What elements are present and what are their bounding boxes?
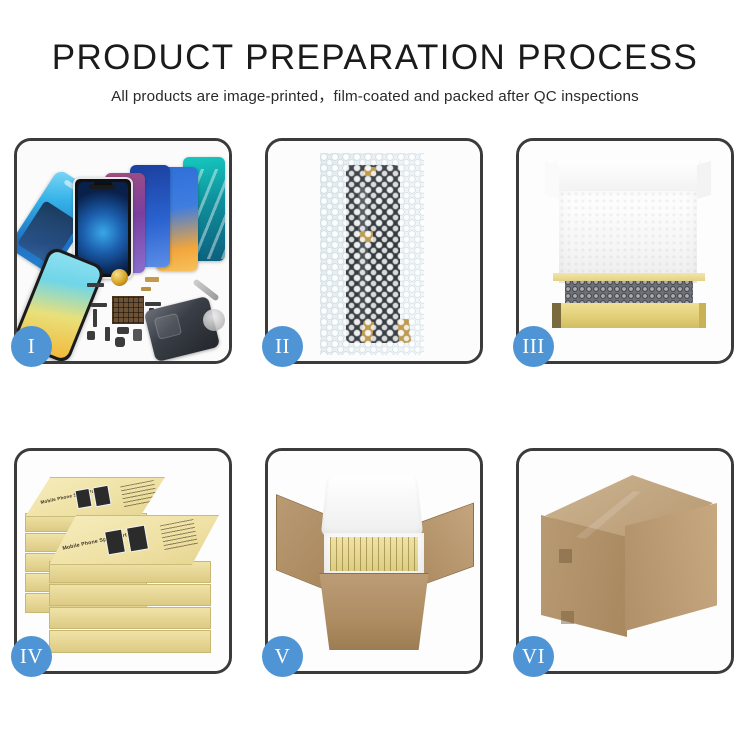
gold-coil-icon xyxy=(111,269,128,286)
step-2-image xyxy=(268,141,480,361)
box-rim-icon xyxy=(553,273,705,281)
header: PRODUCT PREPARATION PROCESS All products… xyxy=(0,36,750,107)
vibrator-icon xyxy=(115,337,125,347)
phone-fan-group xyxy=(73,155,225,277)
stacked-box-fr-4 xyxy=(49,630,211,653)
process-step-panel-2: II xyxy=(265,138,483,364)
step-badge-1: I xyxy=(11,326,52,367)
gold-pin-icon xyxy=(141,287,151,291)
carton-packing-scene xyxy=(268,451,480,671)
carton-body-icon xyxy=(312,573,436,650)
labelled-box-front-lid: Mobile Phone Spare Parts xyxy=(49,515,219,565)
kraft-box-front-icon xyxy=(553,303,705,328)
step-1-image xyxy=(17,141,229,361)
process-step-panel-4: Mobile Phone Spare Parts Mobile Pho xyxy=(14,448,232,674)
wrapped-contents-icon xyxy=(565,279,693,305)
phone-assortment-scene xyxy=(17,141,229,361)
cable-a-icon xyxy=(91,303,107,307)
stacked-box-fr-3 xyxy=(49,607,211,629)
box-open-lid-icon xyxy=(555,159,701,195)
cable-b-icon xyxy=(93,309,97,327)
bubble-wrap-scene xyxy=(268,141,480,361)
sealed-carton-scene xyxy=(519,451,731,671)
spare-parts-group xyxy=(87,269,207,361)
label-text-lines-front xyxy=(160,519,198,551)
stacked-boxes-scene: Mobile Phone Spare Parts Mobile Pho xyxy=(17,451,229,671)
process-step-panel-6: VI xyxy=(516,448,734,674)
step-6-image xyxy=(519,451,731,671)
foam-lid-icon xyxy=(321,476,423,536)
camera-module-icon xyxy=(87,331,95,340)
step-3-image xyxy=(519,141,731,361)
label-window-b2-icon xyxy=(92,485,111,507)
step-badge-2: II xyxy=(262,326,303,367)
tool-handle-icon xyxy=(203,309,225,331)
screw-grid-icon xyxy=(112,296,144,324)
sealed-carton-icon xyxy=(541,475,717,641)
notch-icon xyxy=(94,182,112,185)
button-part-icon xyxy=(133,329,142,341)
step-badge-3: III xyxy=(513,326,554,367)
step-4-image: Mobile Phone Spare Parts Mobile Pho xyxy=(17,451,229,671)
cable-c-icon xyxy=(105,327,110,341)
process-step-panel-5: V xyxy=(265,448,483,674)
flex-strip-icon xyxy=(87,283,104,287)
product-preparation-infographic: PRODUCT PREPARATION PROCESS All products… xyxy=(0,0,750,750)
step-badge-6: VI xyxy=(513,636,554,677)
step-badge-4: IV xyxy=(11,636,52,677)
gold-connector-icon xyxy=(145,277,159,282)
page-subtitle: All products are image-printed，film-coat… xyxy=(0,87,750,107)
step-badge-5: V xyxy=(262,636,303,677)
carton-tape-patch-bottom-icon xyxy=(561,611,574,624)
process-step-grid: I II xyxy=(14,138,738,674)
speaker-icon xyxy=(117,327,129,334)
yellow-boxes-inside-icon xyxy=(330,537,418,571)
bubble-wrap-bag xyxy=(320,153,424,355)
process-step-panel-1: I xyxy=(14,138,232,364)
carton-tape-patch-top-icon xyxy=(559,549,572,563)
label-text-lines-back xyxy=(120,480,158,508)
white-foam-sheet-icon xyxy=(559,191,697,283)
label-window-f2-icon xyxy=(126,525,149,553)
flex-cable-icon xyxy=(145,302,161,306)
step-5-image xyxy=(268,451,480,671)
labelled-box-back-lid: Mobile Phone Spare Parts xyxy=(25,477,165,517)
label-window-b1-icon xyxy=(74,488,92,509)
box-stack: Mobile Phone Spare Parts Mobile Pho xyxy=(21,467,229,663)
inner-box-scene xyxy=(519,141,731,361)
page-title: PRODUCT PREPARATION PROCESS xyxy=(0,36,750,80)
bubble-texture xyxy=(320,153,424,355)
stacked-box-fr-2 xyxy=(49,584,211,606)
process-step-panel-3: III xyxy=(516,138,734,364)
label-window-f1-icon xyxy=(104,529,126,556)
